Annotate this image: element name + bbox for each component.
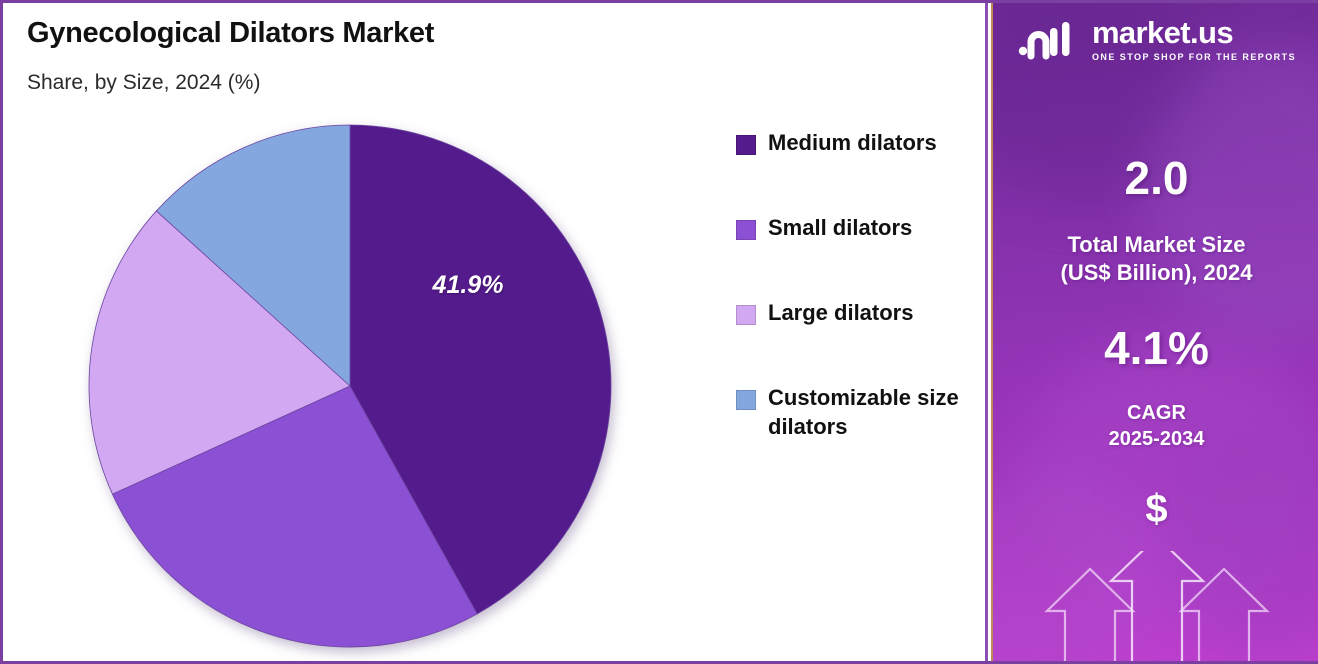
logo-tagline: ONE STOP SHOP FOR THE REPORTS: [1092, 52, 1296, 62]
page-title: Gynecological Dilators Market: [27, 17, 434, 50]
chart-legend: Medium dilators Small dilators Large dil…: [736, 129, 981, 498]
chart-panel: Gynecological Dilators Market Share, by …: [3, 3, 988, 661]
market-us-logo[interactable]: market.us ONE STOP SHOP FOR THE REPORTS: [993, 17, 1318, 62]
market-caption-line-1: Total Market Size: [993, 231, 1318, 259]
legend-swatch-icon-large: [736, 305, 756, 325]
dollar-sign-icon: $: [993, 487, 1318, 532]
page-subtitle: Share, by Size, 2024 (%): [27, 71, 260, 95]
cagr-value: 4.1%: [993, 321, 1318, 375]
legend-label-medium: Medium dilators: [768, 129, 937, 157]
legend-label-large: Large dilators: [768, 299, 913, 327]
legend-item-medium-dilators[interactable]: Medium dilators: [736, 129, 981, 157]
logo-wordmark: market.us: [1092, 17, 1296, 48]
pie-slice-label-medium: 41.9%: [408, 271, 528, 300]
legend-item-large-dilators[interactable]: Large dilators: [736, 299, 981, 327]
pie-chart: 41.9%: [87, 123, 613, 649]
cagr-caption-line-2: 2025-2034: [993, 427, 1318, 453]
pie-chart-svg: [87, 123, 613, 649]
market-caption-line-2: (US$ Billion), 2024: [993, 259, 1318, 287]
cagr-caption: CAGR 2025-2034: [993, 401, 1318, 452]
legend-label-small: Small dilators: [768, 214, 912, 242]
legend-swatch-icon-medium: [736, 135, 756, 155]
logo-text: market.us ONE STOP SHOP FOR THE REPORTS: [1092, 17, 1296, 62]
total-market-size-value: 2.0: [993, 151, 1318, 205]
infographic-frame: Gynecological Dilators Market Share, by …: [0, 0, 1318, 664]
brand-panel: market.us ONE STOP SHOP FOR THE REPORTS …: [991, 3, 1318, 661]
legend-swatch-icon-customizable: [736, 390, 756, 410]
legend-item-small-dilators[interactable]: Small dilators: [736, 214, 981, 242]
legend-swatch-icon-small: [736, 220, 756, 240]
cagr-caption-line-1: CAGR: [993, 401, 1318, 427]
growth-arrows-icon: [993, 551, 1318, 661]
legend-item-customizable-size-dilators[interactable]: Customizable size dilators: [736, 384, 981, 440]
logo-mark-icon: [1017, 20, 1081, 60]
total-market-size-caption: Total Market Size (US$ Billion), 2024: [993, 231, 1318, 287]
legend-label-customizable: Customizable size dilators: [768, 384, 981, 440]
